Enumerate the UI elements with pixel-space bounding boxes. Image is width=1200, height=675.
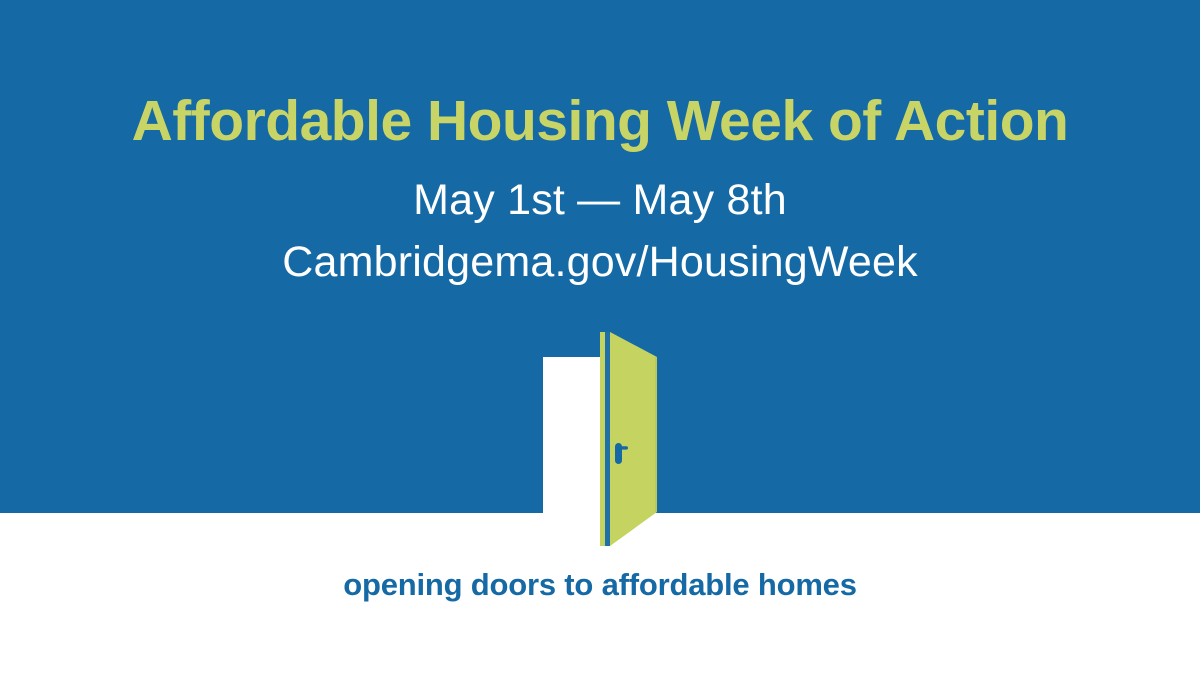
poster-canvas: Affordable Housing Week of Action May 1s… bbox=[0, 0, 1200, 675]
event-url: Cambridgema.gov/HousingWeek bbox=[0, 238, 1200, 287]
open-door-illustration bbox=[500, 320, 720, 560]
door-hinge-strip-icon bbox=[600, 332, 605, 546]
page-title: Affordable Housing Week of Action bbox=[0, 90, 1200, 153]
door-edge-icon bbox=[605, 332, 610, 546]
door-panel-shade-icon bbox=[655, 357, 657, 512]
door-panel-icon bbox=[610, 332, 657, 546]
tagline: opening doors to affordable homes bbox=[0, 566, 1200, 603]
event-date-range: May 1st — May 8th bbox=[0, 176, 1200, 225]
